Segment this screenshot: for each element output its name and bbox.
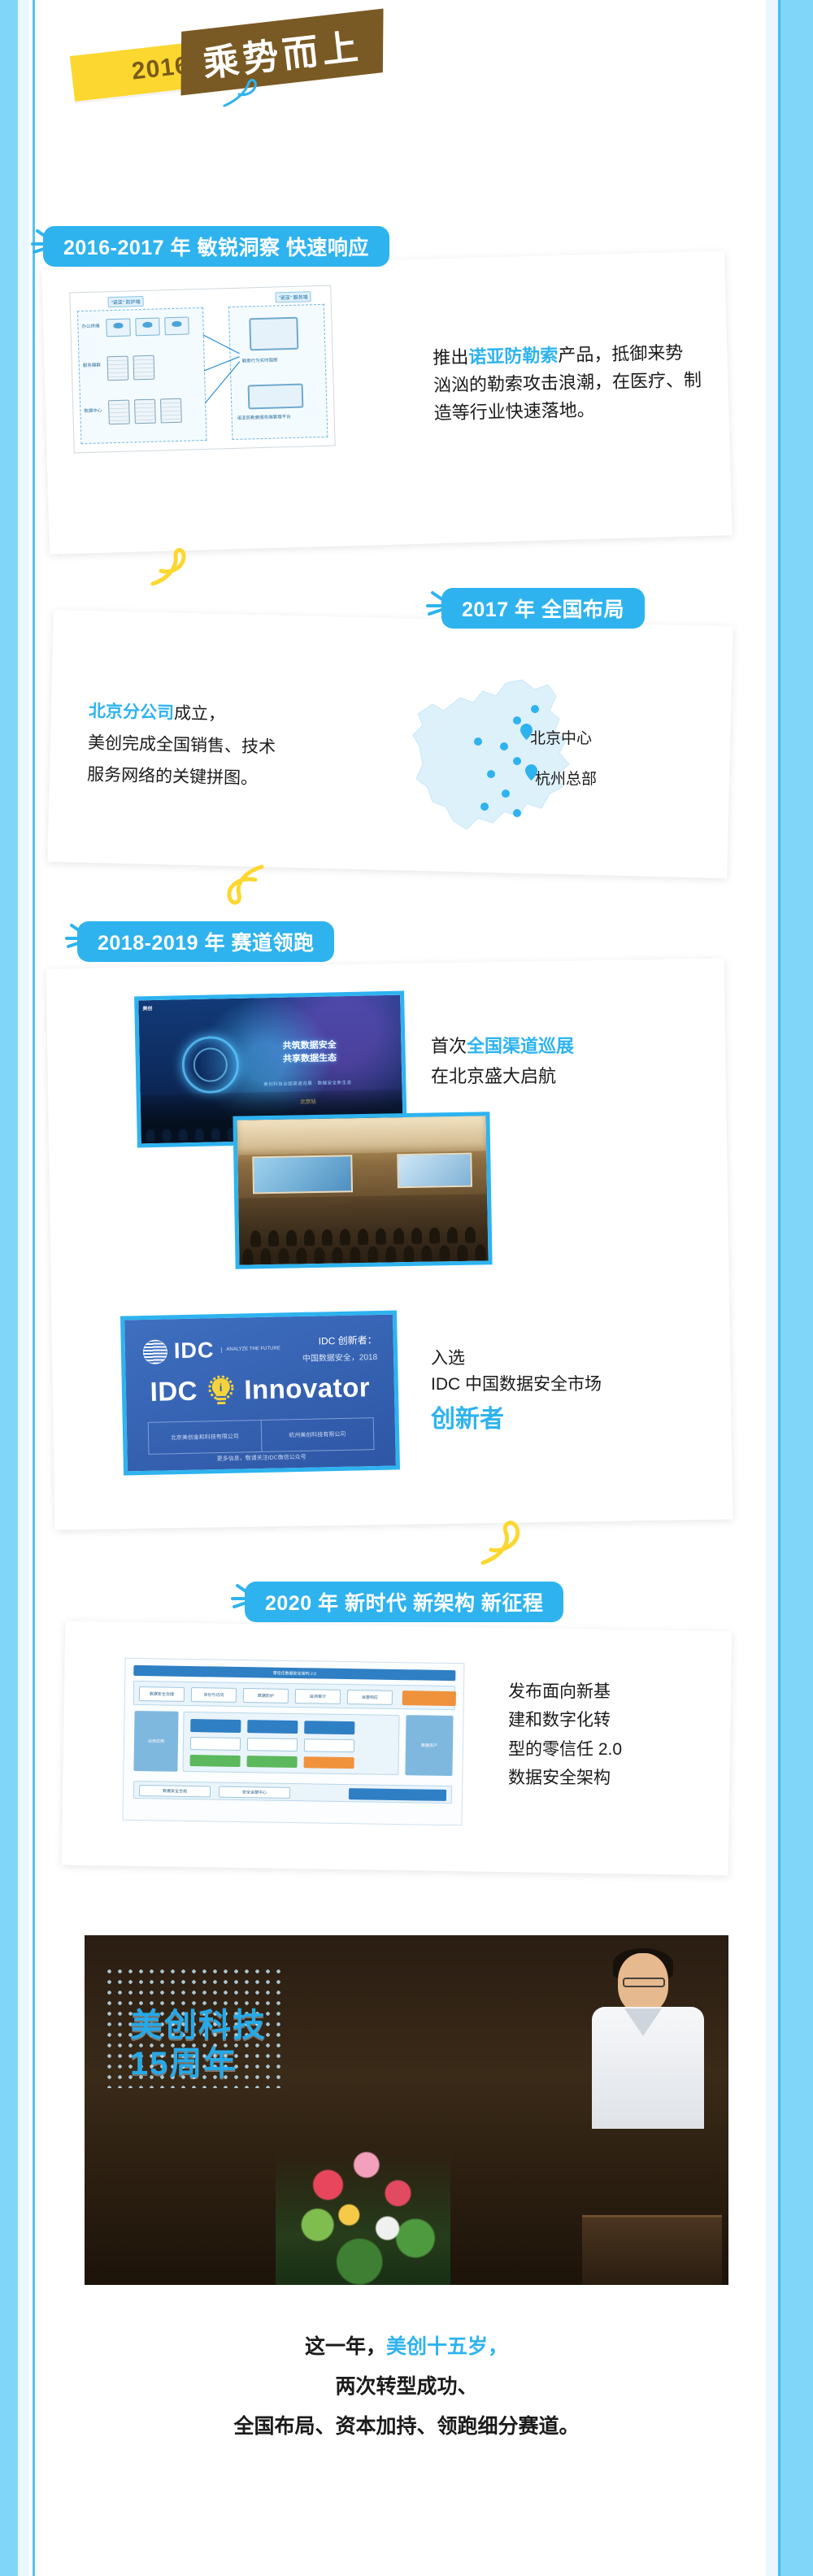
stage-logo: 美创 [142,1004,152,1012]
s4-line1: 发布面向新基 [508,1677,711,1706]
photo-anniversary-content: 美创科技 15周年 [85,1935,728,2285]
section4-headline-text: 2020 年 新时代 新架构 新征程 [265,1587,543,1617]
arch-cell [349,1788,446,1801]
photo-anniversary: 美创科技 15周年 [85,1935,728,2285]
section4-headline: 2020 年 新时代 新架构 新征程 [249,1586,559,1618]
arch-row-1: 数据安全治理 身份与访问 数据防护 监测审计 运营响应 [133,1681,455,1710]
server-icon [107,356,129,381]
flower-arrangement [276,2118,450,2285]
arch-right-col: 数据资产 [405,1715,453,1776]
s4-line4: 数据安全架构 [508,1764,711,1792]
server-icon [160,398,182,424]
s2-body-highlight: 北京分公司 [89,702,175,723]
s2-body-l1: 成立， [174,704,226,724]
section1-body: 推出诺亚防勒索产品，抵御来势汹汹的勒索攻击浪潮，在医疗、制造等行业快速落地。 [433,339,702,428]
masthead-title-banner: 乘势而上 [180,9,383,96]
speaker-podium [582,2215,722,2285]
arch-cell [304,1721,354,1734]
pc-icon [135,317,160,336]
server-icon [134,399,156,424]
arch-cell: 监测审计 [295,1689,341,1704]
tour-prefix: 首次 [431,1036,467,1056]
s4-line3: 型的零信任 2.0 [508,1735,711,1764]
idc-cell-left: 北京美创金和科技有限公司 [149,1421,261,1454]
section2-body: 北京分公司成立， 美创完成全国销售、技术 服务网络的关键拼图。 [87,696,350,797]
arch-cell [190,1719,241,1733]
audience-screen-left [253,1155,353,1194]
pc-icon [106,318,131,337]
closing-1-highlight: 美创十五岁， [386,2335,508,2358]
tour-line2: 在北京盛大启航 [431,1061,699,1091]
arch-top-band: 零信任数据安全架构 2.0 [133,1665,455,1681]
arch-cell-accent [402,1690,456,1706]
closing-text: 这一年，美创十五岁， 两次转型成功、 全国布局、资本加持、领跑细分赛道。 [85,2327,728,2446]
arch-cell [247,1756,298,1768]
arch-cell: 安全运营中心 [219,1786,290,1799]
monitor-icon [249,317,298,351]
award-line2: IDC 中国数据安全市场 [431,1372,699,1398]
arch-cell [303,1756,354,1769]
closing-line-2: 两次转型成功、 [85,2367,728,2407]
arch-cell [190,1755,241,1767]
idc-globe-icon [143,1339,168,1364]
stage-title-line2: 共享数据生态 [234,1051,386,1068]
arch-bottom-band: 数据安全合规 安全运营中心 [133,1781,452,1804]
map-label-beijing: 北京中心 [530,726,592,748]
right-edge-rule [778,0,780,2576]
doodle-swirl-icon [221,78,270,111]
china-map-shape [382,651,602,854]
audience-screen-right [397,1152,472,1188]
s2-body-l3: 服务网络的关键拼图。 [87,759,348,798]
section2-headline: 2017 年 全国布局 [446,592,641,624]
lightbulb-gear-icon: i [207,1375,235,1407]
arch-cell: 身份与访问 [191,1687,237,1703]
photo-audience [233,1112,492,1268]
arch-cell: 数据安全治理 [139,1686,185,1702]
arch-cell: 数据防护 [243,1688,289,1704]
audience-ceiling [237,1116,486,1155]
closing-1-prefix: 这一年， [305,2335,386,2358]
mock-pc-row [106,316,189,337]
stage-subtitle: 美创科技全国渠道巡展 · 数据安全新生态 [234,1078,380,1088]
arch-cell: 运营响应 [347,1690,393,1705]
award-highlight: 创新者 [431,1401,699,1438]
idc-main-right: Innovator [244,1372,371,1404]
mock-note1: 勒索行为实时阻断 [242,356,278,363]
doodle-loop-yellow-2-icon [221,860,273,911]
arch-cell: 数据安全合规 [139,1785,211,1797]
arch-cell [247,1720,298,1734]
anniversary-title: 美创科技 15周年 [130,2007,267,2083]
zero-trust-architecture-diagram: 零信任数据安全架构 2.0 数据安全治理 身份与访问 数据防护 监测审计 运营响… [122,1658,464,1826]
doodle-loop-yellow-3-icon [472,1514,527,1568]
idc-award-card: IDC ANALYZE THE FUTURE IDC 创新者： 中国数据安全，2… [120,1310,400,1475]
tour-highlight: 全国渠道巡展 [467,1036,574,1056]
server-icon [108,400,130,425]
section3-award-text: 入选 IDC 中国数据安全市场 创新者 [431,1346,699,1438]
mock-datacenter-row [108,398,182,425]
server-icon [133,355,155,381]
masthead: 2016-2020 乘势而上 [0,0,813,122]
section1-headline-text: 2016-2017 年 敏锐洞察 快速响应 [63,232,369,261]
idc-caption-line1: IDC 创新者： [302,1333,377,1348]
idc-logo-word: IDC [174,1338,215,1364]
idc-main-title: IDC i Innovator [126,1372,395,1408]
anniversary-line1: 美创科技 [130,2007,267,2045]
left-edge-rule [33,0,35,2576]
section3-headline: 2018-2019 年 赛道领跑 [81,925,330,958]
speaker-glasses [623,1978,665,1987]
pc-icon [164,316,189,335]
section4-body: 发布面向新基 建和数字化转 型的零信任 2.0 数据安全架构 [508,1677,711,1792]
arch-cell [190,1737,241,1751]
arch-left-col-1: 业务应用 [133,1711,178,1772]
section1-product-screenshot: "诺亚" 防护端 "诺亚" 服务端 办公终端 服务器群 数据中心 勒索行为实时阻… [69,285,335,454]
section2-headline-text: 2017 年 全国布局 [462,594,624,623]
arch-cell [247,1738,298,1751]
section3-tour-text: 首次全国渠道巡展 在北京盛大启航 [431,1031,699,1092]
connector-arrows-icon [201,321,244,411]
award-line1: 入选 [431,1346,699,1372]
s1-body-highlight: 诺亚防勒索 [468,345,559,367]
idc-caption-line2: 中国数据安全，2018 [302,1350,378,1364]
arch-center-block [182,1712,399,1775]
section1-headline: 2016-2017 年 敏锐洞察 快速响应 [47,230,385,263]
mock-note2: 诺亚防勒索服务端管理平台 [237,413,291,421]
closing-line-1: 这一年，美创十五岁， [85,2327,728,2367]
mock-right-zone: 勒索行为实时阻断 诺亚防勒索服务端管理平台 [228,304,328,440]
mock-left-tag: "诺亚" 防护端 [107,296,143,307]
s4-line2: 建和数字化转 [508,1706,711,1734]
stage-title: 共筑数据安全 共享数据生态 [233,1038,385,1068]
arch-top-label: 零信任数据安全架构 2.0 [133,1668,455,1678]
idc-cell-right: 杭州美创科技有限公司 [260,1418,373,1451]
stage-globe-graphic [181,1036,239,1094]
idc-logo-tagline: ANALYZE THE FUTURE [220,1346,280,1353]
s1-body-prefix: 推出 [433,347,469,368]
mock-server-row [107,355,155,381]
console-icon [248,384,304,410]
map-label-hangzhou: 杭州总部 [535,767,597,789]
doodle-loop-yellow-icon [146,543,195,589]
svg-text:i: i [219,1382,222,1394]
china-map [382,651,602,854]
idc-company-cells: 北京美创金和科技有限公司 杭州美创科技有限公司 [148,1417,375,1455]
anniversary-line2: 15周年 [130,2045,267,2083]
audience-seats [238,1194,488,1264]
idc-main-left: IDC [150,1376,198,1407]
mock-row3-label: 数据中心 [84,407,102,414]
mock-row1-label: 办公终端 [81,323,99,330]
arch-cell [304,1738,354,1752]
section3-headline-text: 2018-2019 年 赛道领跑 [98,927,314,956]
mock-left-zone: 办公终端 服务器群 数据中心 [77,307,207,444]
closing-line-3: 全国布局、资本加持、领跑细分赛道。 [85,2407,728,2447]
idc-award-caption: IDC 创新者： 中国数据安全，2018 [302,1333,377,1364]
speaker-person [587,1953,709,2128]
mock-right-tag: "诺亚" 服务端 [275,291,311,302]
masthead-title: 乘势而上 [178,15,386,89]
idc-logo: IDC ANALYZE THE FUTURE [143,1336,281,1364]
mock-row2-label: 服务器群 [83,361,101,368]
photo-audience-content [237,1116,488,1264]
